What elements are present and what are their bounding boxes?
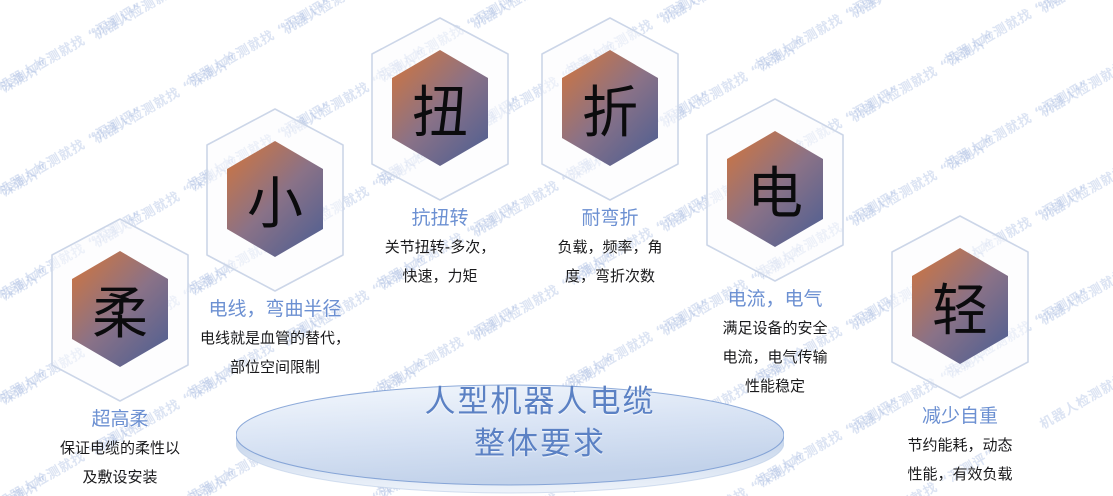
hexagon-badge: 折	[535, 14, 685, 204]
node-heading: 减少自重	[855, 402, 1065, 431]
node-text-block: 减少自重节约能耗，动态性能，有效负载	[855, 402, 1065, 489]
hexagon-glyph: 小	[226, 140, 324, 258]
hexagon-badge: 电	[700, 95, 850, 285]
node-heading: 超高柔	[15, 405, 225, 434]
hexagon-badge: 小	[200, 105, 350, 295]
hexagon-glyph: 折	[561, 49, 659, 167]
watermark-text: 机器人检测就找 “深测评”机器人检测就找 “深测评”机器人检测就找 “深测评”机…	[0, 0, 1113, 2]
feature-node-4[interactable]: 电电流，电气满足设备的安全电流，电气传输性能稳定	[670, 95, 880, 401]
node-description-line: 及敷设安装	[15, 463, 225, 492]
node-heading: 电流，电气	[670, 285, 880, 314]
hexagon-badge: 轻	[885, 212, 1035, 402]
node-description-line: 满足设备的安全	[670, 314, 880, 343]
node-heading: 电线，弯曲半径	[170, 295, 380, 324]
node-description-line: 节约能耗，动态	[855, 431, 1065, 460]
node-description-line: 部位空间限制	[170, 353, 380, 382]
node-text-block: 超高柔保证电缆的柔性以及敷设安装	[15, 405, 225, 492]
node-description-line: 保证电缆的柔性以	[15, 434, 225, 463]
hexagon-glyph: 扭	[391, 49, 489, 167]
hexagon-glyph: 电	[726, 130, 824, 248]
node-description-line: 电线就是血管的替代，	[170, 324, 380, 353]
hexagon-glyph: 轻	[911, 247, 1009, 365]
feature-node-5[interactable]: 轻减少自重节约能耗，动态性能，有效负载	[855, 212, 1065, 489]
infographic-canvas: 机器人检测就找 “深测评”机器人检测就找 “深测评”机器人检测就找 “深测评”机…	[0, 0, 1113, 496]
center-title-line1: 人型机器人电缆	[425, 384, 656, 420]
center-title: 人型机器人电缆 整体要求	[360, 382, 720, 465]
node-description-line: 性能，有效负载	[855, 460, 1065, 489]
hexagon-glyph: 柔	[71, 250, 169, 368]
node-text-block: 电线，弯曲半径电线就是血管的替代，部位空间限制	[170, 295, 380, 382]
center-title-line2: 整体要求	[360, 424, 720, 466]
node-description-line: 电流，电气传输	[670, 343, 880, 372]
hexagon-badge: 扭	[365, 14, 515, 204]
